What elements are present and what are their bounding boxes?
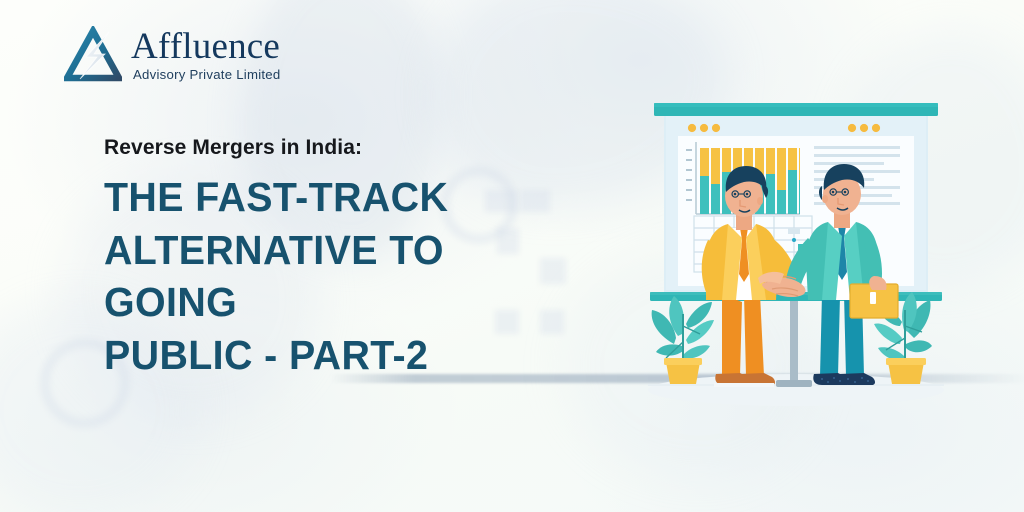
plant-left [652,296,714,384]
illustration-business-handshake [636,88,956,418]
banner-root: Affluence Advisory Private Limited Rever… [0,0,1024,512]
logo-tagline: Advisory Private Limited [133,68,280,81]
page-title: THE FAST-TRACK ALTERNATIVE TO GOING PUBL… [104,171,555,382]
logo-wordmark: Affluence Advisory Private Limited [131,28,280,81]
affluence-triangle-logo-icon [64,26,122,84]
board-dots-right [848,124,880,132]
logo-brand-name: Affluence [131,28,280,65]
headline-kicker: Reverse Mergers in India: [104,136,574,160]
headline-block: Reverse Mergers in India: THE FAST-TRACK… [104,136,574,382]
brand-logo[interactable]: Affluence Advisory Private Limited [64,26,280,84]
board-dots-left [688,124,720,132]
